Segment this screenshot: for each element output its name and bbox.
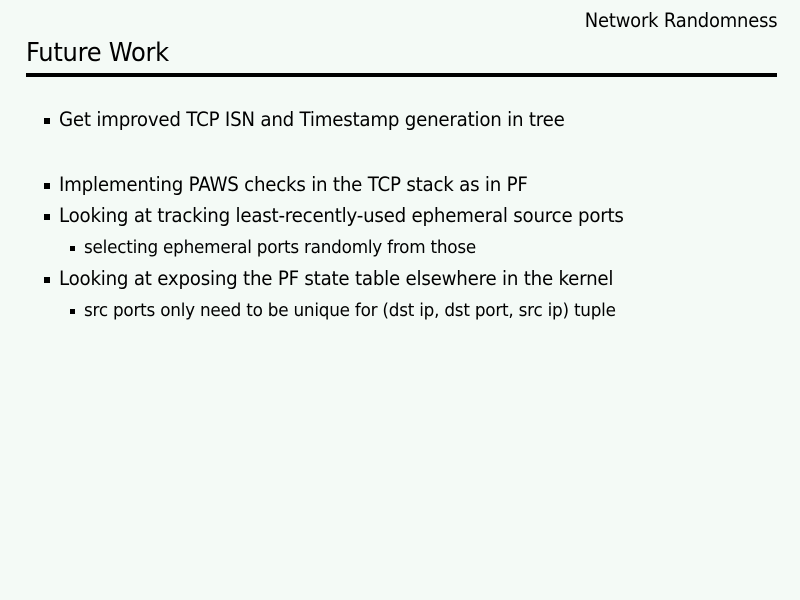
square-bullet-small-icon xyxy=(70,309,75,314)
bullet-text: selecting ephemeral ports randomly from … xyxy=(84,232,476,264)
bullet-item-level-1: Looking at tracking least-recently-used … xyxy=(0,200,800,232)
bullet-text: Get improved TCP ISN and Timestamp gener… xyxy=(59,104,565,136)
bullet-item-level-2: src ports only need to be unique for (ds… xyxy=(0,295,800,327)
slide-title: Future Work xyxy=(26,38,169,68)
bullet-text: Looking at tracking least-recently-used … xyxy=(59,200,624,232)
presentation-slide: Network Randomness Future Work Get impro… xyxy=(0,0,800,600)
title-divider-rule xyxy=(26,73,777,77)
bullet-item-level-1: Get improved TCP ISN and Timestamp gener… xyxy=(0,104,800,136)
slide-body: Get improved TCP ISN and Timestamp gener… xyxy=(0,104,800,326)
deck-title: Network Randomness xyxy=(584,9,777,32)
square-bullet-icon xyxy=(44,183,50,189)
bullet-item-level-1: Looking at exposing the PF state table e… xyxy=(0,263,800,295)
square-bullet-icon xyxy=(44,118,50,124)
square-bullet-icon xyxy=(44,214,50,220)
square-bullet-icon xyxy=(44,277,50,283)
bullet-text: Implementing PAWS checks in the TCP stac… xyxy=(59,169,528,201)
bullet-item-level-2: selecting ephemeral ports randomly from … xyxy=(0,232,800,264)
bullet-text: src ports only need to be unique for (ds… xyxy=(84,295,616,327)
bullet-item-level-1: Implementing PAWS checks in the TCP stac… xyxy=(0,169,800,201)
bullet-text: Looking at exposing the PF state table e… xyxy=(59,263,613,295)
square-bullet-small-icon xyxy=(70,246,75,251)
